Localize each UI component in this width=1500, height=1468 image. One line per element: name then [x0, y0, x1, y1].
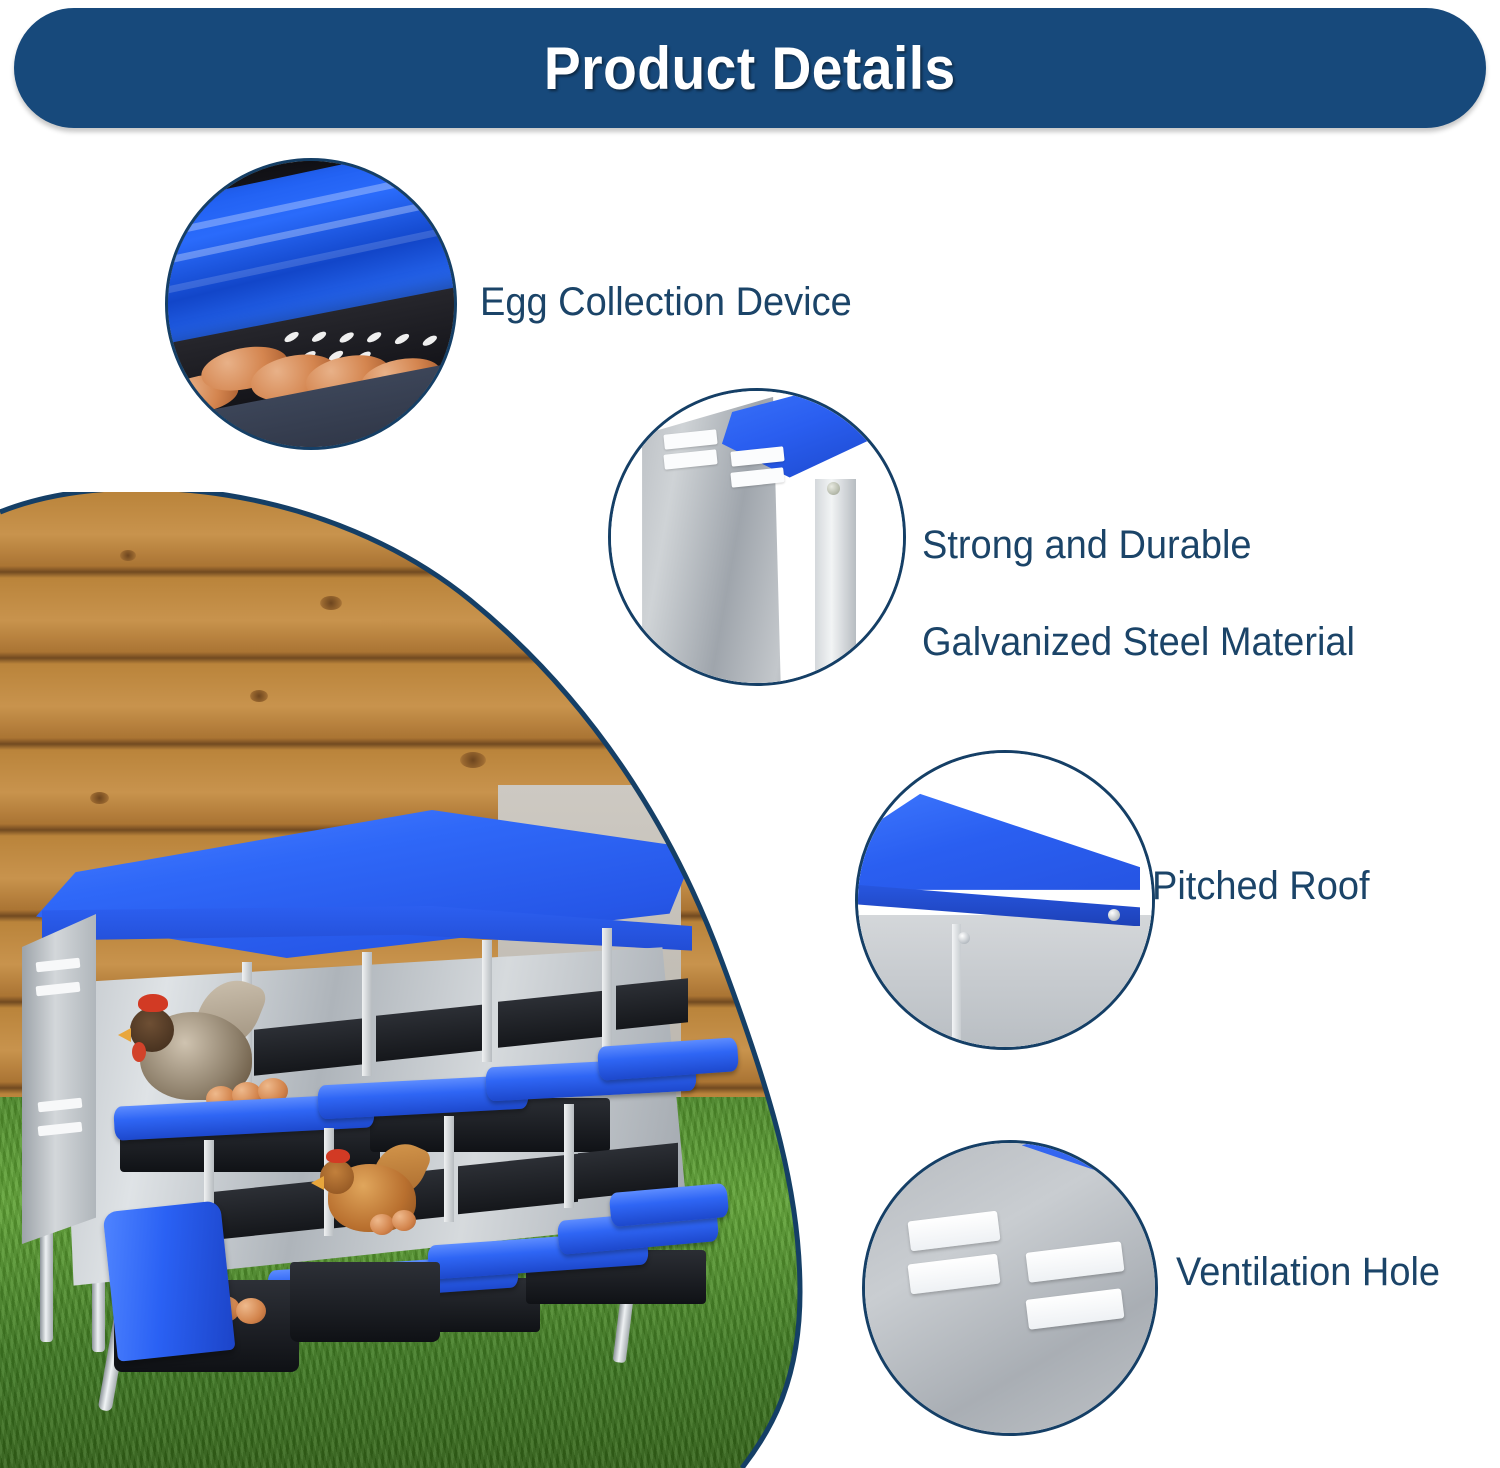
ventilation-slot	[1026, 1288, 1125, 1329]
compartment-divider	[362, 952, 372, 1076]
callout-ventilation-hole-image	[862, 1140, 1158, 1436]
steel-corner-post	[815, 479, 856, 683]
steel-wall-closeup	[858, 915, 1152, 1047]
callout-pitched-roof-image	[855, 750, 1155, 1050]
ventilation-slot	[907, 1254, 1000, 1295]
callout-label-galvanized-steel: Strong and Durable Galvanized Steel Mate…	[922, 472, 1355, 716]
egg-collection-bin	[290, 1262, 440, 1342]
callout-label-pitched-roof: Pitched Roof	[1152, 862, 1370, 911]
nesting-box-product	[18, 810, 718, 1430]
nest-interior	[616, 978, 688, 1030]
callout-label-line-2: Galvanized Steel Material	[922, 618, 1355, 667]
ventilation-slot	[1026, 1242, 1125, 1283]
page-title: Product Details	[544, 34, 956, 103]
callout-egg-collection-image	[165, 158, 457, 450]
compartment-divider	[444, 1116, 454, 1222]
compartment-divider	[564, 1104, 574, 1208]
callout-label-egg-collection: Egg Collection Device	[480, 278, 852, 327]
callout-label-line-1: Strong and Durable	[922, 521, 1355, 570]
header-banner: Product Details	[14, 8, 1486, 128]
egg-collection-lid	[102, 1200, 235, 1362]
ventilation-slot	[907, 1210, 1000, 1251]
compartment-divider	[602, 928, 612, 1048]
compartment-divider	[482, 940, 492, 1062]
blue-roof-corner	[1022, 1140, 1158, 1230]
steel-side-panel	[22, 914, 96, 1244]
callout-galvanized-steel-image	[608, 388, 906, 686]
callout-label-ventilation-hole: Ventilation Hole	[1176, 1248, 1440, 1297]
